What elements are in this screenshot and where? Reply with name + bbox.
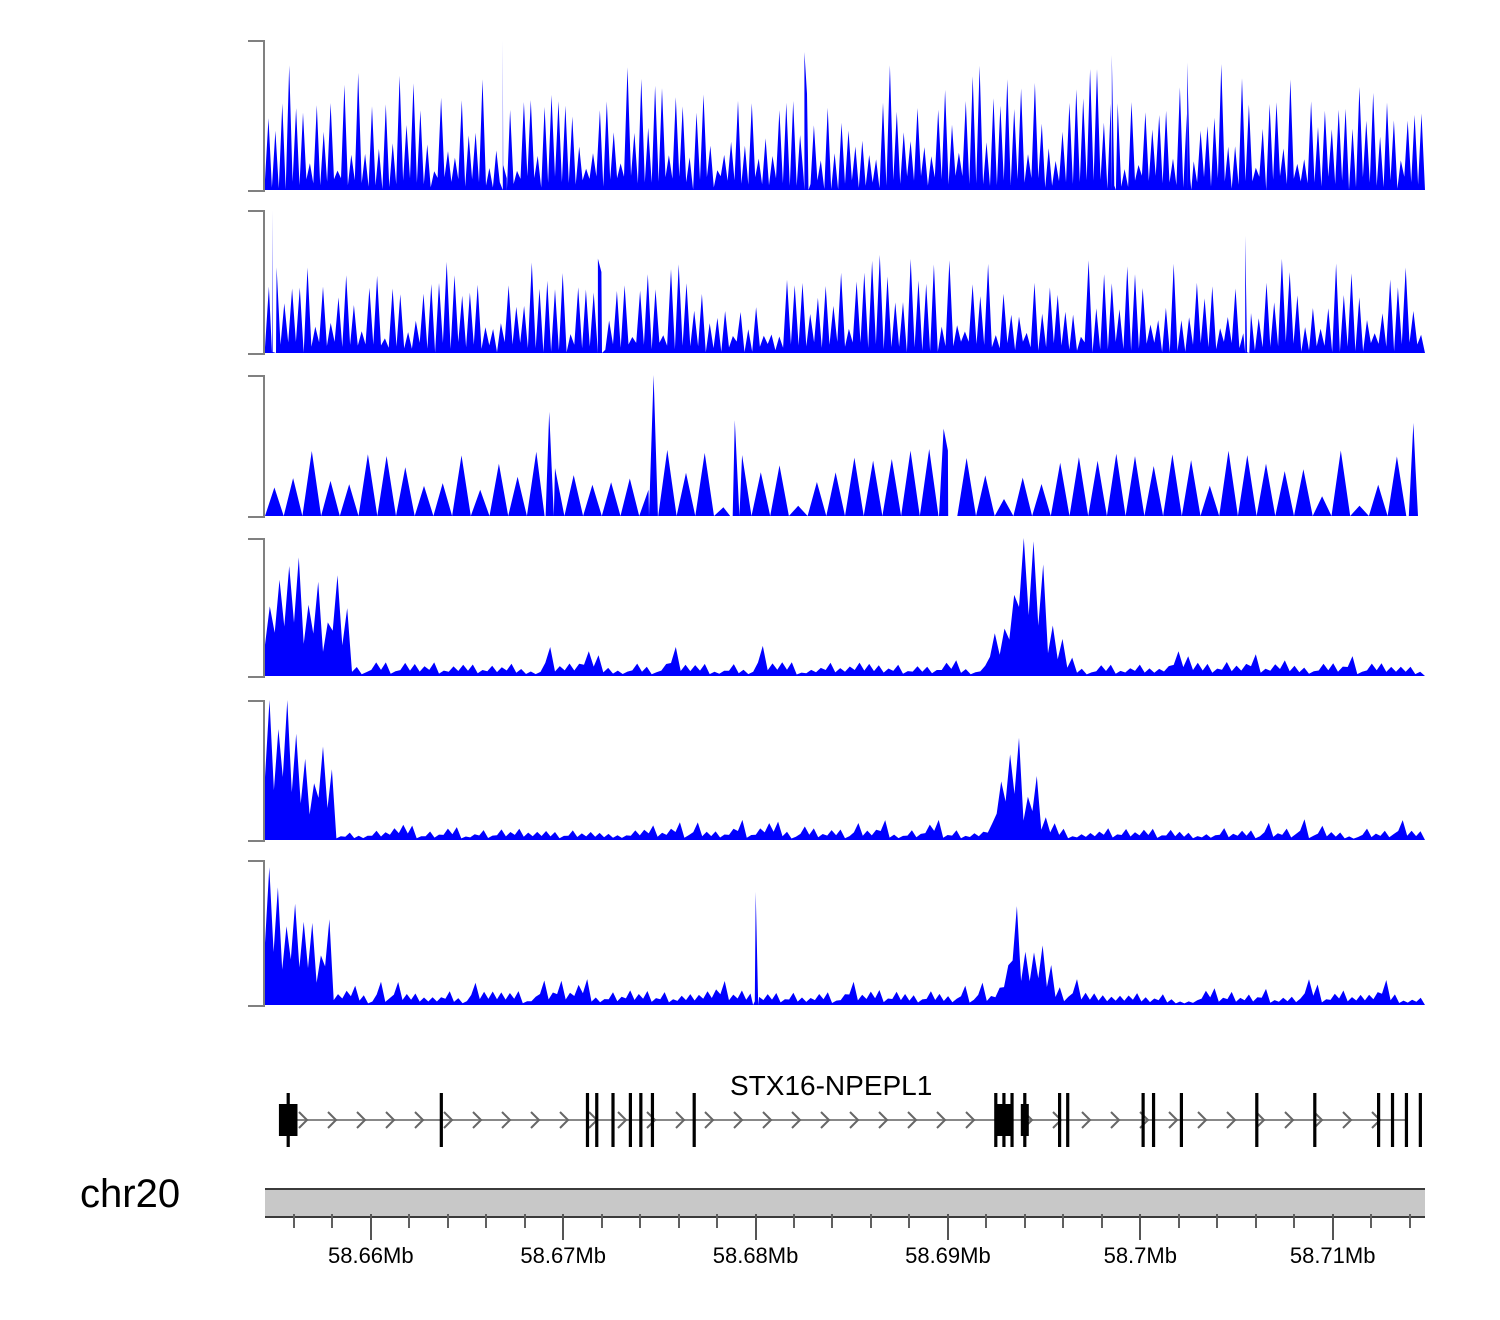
y-axis-max-tick xyxy=(248,210,265,212)
coverage-area-plot[interactable] xyxy=(265,538,1425,676)
axis-minor-tick xyxy=(1255,1214,1257,1228)
axis-minor-tick xyxy=(678,1214,680,1228)
axis-minor-tick xyxy=(601,1214,603,1228)
coverage-area-plot[interactable] xyxy=(265,375,1425,516)
axis-minor-tick xyxy=(524,1214,526,1228)
y-axis-max-tick xyxy=(248,375,265,377)
coverage-area-plot[interactable] xyxy=(265,700,1425,840)
axis-tick-label: 58.68Mb xyxy=(676,1243,836,1269)
axis-tick-label: 58.69Mb xyxy=(868,1243,1028,1269)
axis-minor-tick xyxy=(293,1214,295,1228)
axis-major-tick xyxy=(755,1214,757,1240)
coverage-area-plot[interactable] xyxy=(265,210,1425,353)
axis-minor-tick xyxy=(447,1214,449,1228)
y-axis-min-tick xyxy=(248,516,265,518)
y-axis-min-tick xyxy=(248,190,265,192)
axis-minor-tick xyxy=(331,1214,333,1228)
axis-minor-tick xyxy=(1062,1214,1064,1228)
genome-browser-figure: STX16-NPEPL1 chr20 58.66Mb58.67Mb58.68Mb… xyxy=(0,0,1500,1320)
axis-major-tick xyxy=(1139,1214,1141,1240)
axis-minor-tick xyxy=(870,1214,872,1228)
y-axis-min-tick xyxy=(248,676,265,678)
axis-minor-tick xyxy=(716,1214,718,1228)
axis-major-tick xyxy=(370,1214,372,1240)
axis-minor-tick xyxy=(639,1214,641,1228)
axis-minor-tick xyxy=(408,1214,410,1228)
y-axis-max-tick xyxy=(248,860,265,862)
coverage-area-plot[interactable] xyxy=(265,40,1425,190)
y-axis-min-tick xyxy=(248,353,265,355)
axis-minor-tick xyxy=(985,1214,987,1228)
axis-minor-tick xyxy=(1370,1214,1372,1228)
axis-tick-label: 58.7Mb xyxy=(1060,1243,1220,1269)
coverage-area-plot[interactable] xyxy=(265,860,1425,1005)
chromosome-ideogram-bar[interactable] xyxy=(265,1188,1425,1218)
axis-minor-tick xyxy=(1293,1214,1295,1228)
chromosome-label: chr20 xyxy=(80,1172,180,1217)
y-axis-min-tick xyxy=(248,840,265,842)
axis-major-tick xyxy=(562,1214,564,1240)
axis-minor-tick xyxy=(485,1214,487,1228)
axis-tick-label: 58.71Mb xyxy=(1253,1243,1413,1269)
y-axis-max-tick xyxy=(248,700,265,702)
axis-minor-tick xyxy=(1216,1214,1218,1228)
axis-minor-tick xyxy=(793,1214,795,1228)
axis-minor-tick xyxy=(831,1214,833,1228)
y-axis-min-tick xyxy=(248,1005,265,1007)
axis-minor-tick xyxy=(908,1214,910,1228)
axis-minor-tick xyxy=(1409,1214,1411,1228)
axis-tick-label: 58.66Mb xyxy=(291,1243,451,1269)
y-axis-max-tick xyxy=(248,538,265,540)
axis-minor-tick xyxy=(1101,1214,1103,1228)
y-axis-max-tick xyxy=(248,40,265,42)
axis-major-tick xyxy=(947,1214,949,1240)
axis-minor-tick xyxy=(1178,1214,1180,1228)
axis-major-tick xyxy=(1332,1214,1334,1240)
gene-model-graphic xyxy=(265,1085,1425,1160)
axis-minor-tick xyxy=(1024,1214,1026,1228)
axis-tick-label: 58.67Mb xyxy=(483,1243,643,1269)
